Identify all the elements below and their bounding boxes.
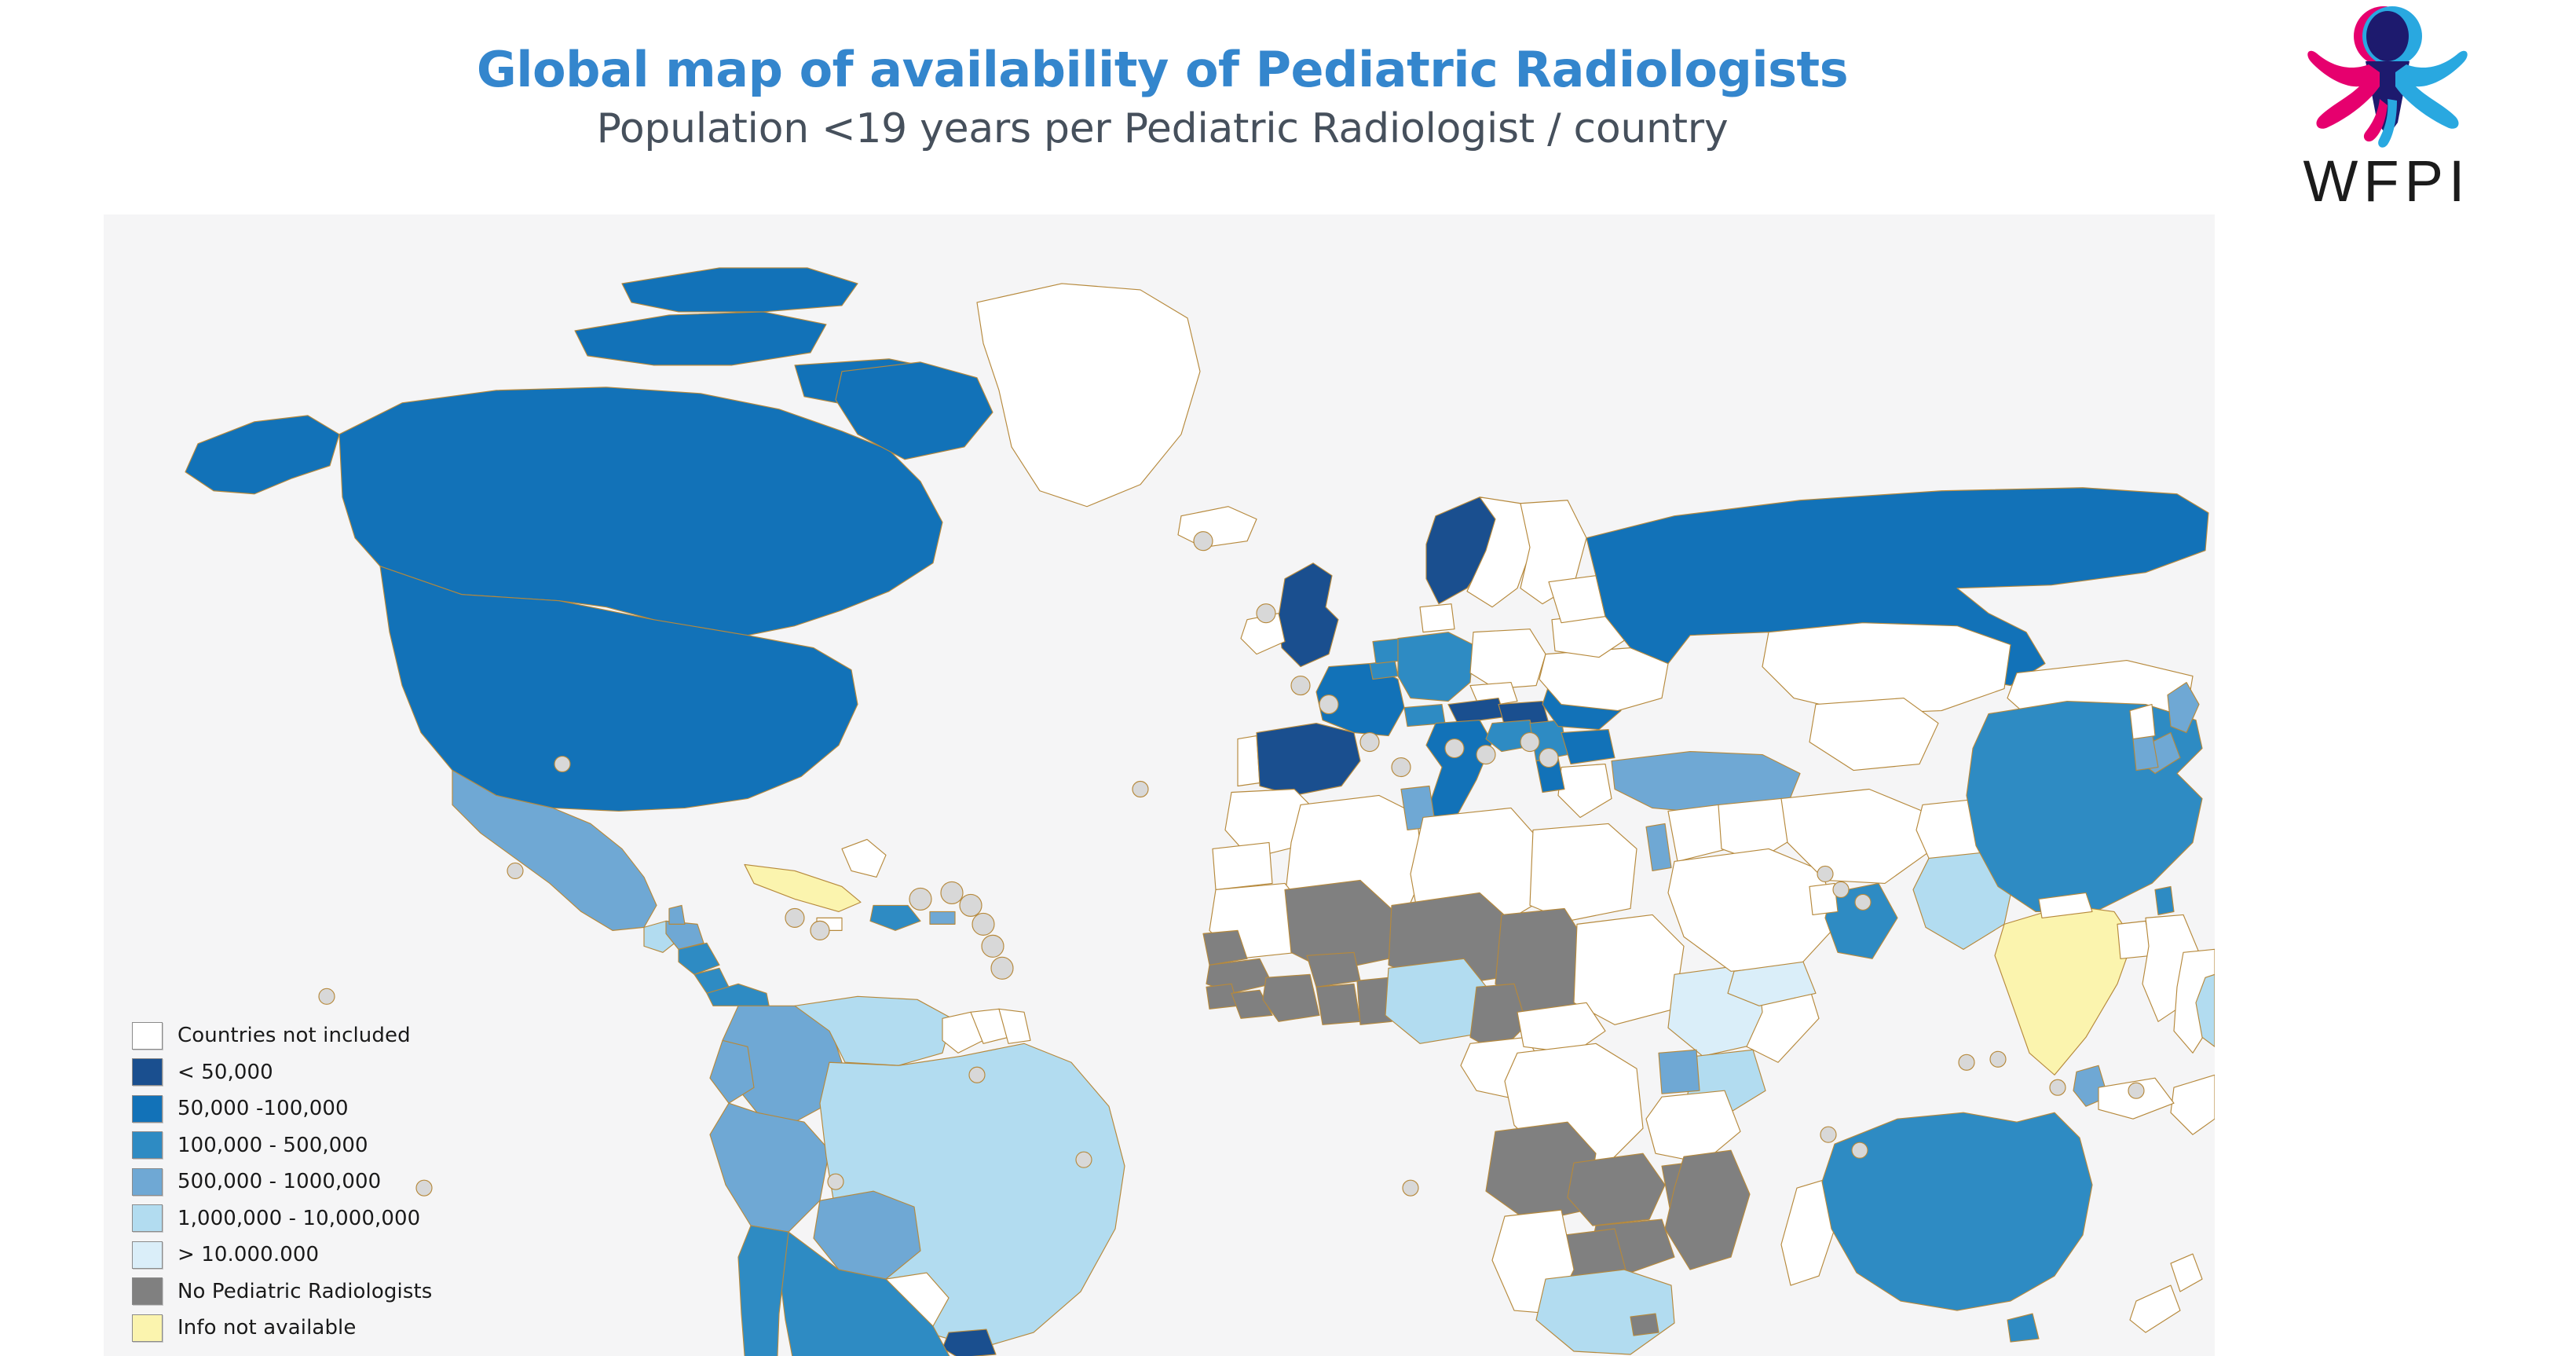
country-new-zealand-north[interactable]	[2171, 1254, 2202, 1292]
country-greenland[interactable]	[977, 284, 1200, 507]
country-egypt[interactable]	[1530, 823, 1637, 921]
country-ukraine[interactable]	[1539, 648, 1668, 711]
country-tasmania[interactable]	[2007, 1314, 2039, 1342]
country-china[interactable]	[1967, 702, 2202, 912]
country-taiwan[interactable]	[2155, 886, 2174, 914]
country-portugal[interactable]	[1238, 736, 1260, 786]
legend-item-none[interactable]: No Pediatric Radiologists	[132, 1274, 572, 1310]
country-peru[interactable]	[710, 1103, 829, 1232]
legend-swatch-1m-10m	[132, 1204, 163, 1232]
country-germany[interactable]	[1398, 632, 1473, 702]
legend-item-not-included[interactable]: Countries not included	[132, 1017, 572, 1054]
legend-label-none: No Pediatric Radiologists	[177, 1280, 432, 1303]
legend-item-no-info[interactable]: Info not available	[132, 1310, 572, 1347]
legend-swatch-500k-1m	[132, 1168, 163, 1196]
country-united-kingdom[interactable]	[1279, 563, 1338, 667]
legend-label-100k-500k: 100,000 - 500,000	[177, 1134, 368, 1157]
legend-swatch-not-included	[132, 1022, 163, 1050]
country-bahamas[interactable]	[842, 839, 886, 877]
country-india[interactable]	[1995, 905, 2133, 1075]
country-poland[interactable]	[1470, 629, 1546, 689]
country-zambia[interactable]	[1568, 1153, 1665, 1226]
country-ghana[interactable]	[1316, 984, 1360, 1024]
country-south-africa[interactable]	[1536, 1270, 1674, 1354]
legend-label-lt-50k: < 50,000	[177, 1061, 273, 1084]
legend-label-not-included: Countries not included	[177, 1024, 411, 1047]
country-puerto-rico[interactable]	[930, 911, 955, 924]
legend-item-100k-500k[interactable]: 100,000 - 500,000	[132, 1127, 572, 1164]
country-lesotho[interactable]	[1630, 1314, 1659, 1336]
country-belize[interactable]	[669, 905, 685, 924]
legend-item-1m-10m[interactable]: 1,000,000 - 10,000,000	[132, 1200, 572, 1237]
country-canada-arctic-1[interactable]	[575, 312, 826, 365]
legend-label-gt-10m: > 10.000.000	[177, 1243, 319, 1266]
country-denmark[interactable]	[1420, 604, 1454, 632]
country-uruguay[interactable]	[942, 1329, 996, 1356]
legend-swatch-100k-500k	[132, 1131, 163, 1159]
legend-label-1m-10m: 1,000,000 - 10,000,000	[177, 1207, 420, 1230]
legend-item-lt-50k[interactable]: < 50,000	[132, 1054, 572, 1091]
wfpi-logo: WFPI	[2262, 0, 2576, 228]
legend-item-500k-1m[interactable]: 500,000 - 1000,000	[132, 1164, 572, 1200]
country-alaska[interactable]	[185, 416, 339, 494]
country-greece[interactable]	[1558, 764, 1612, 818]
country-burkina-faso[interactable]	[1307, 952, 1360, 987]
country-canada-arctic-2[interactable]	[622, 268, 858, 312]
country-new-zealand-south[interactable]	[2130, 1285, 2180, 1332]
country-austria[interactable]	[1448, 698, 1505, 724]
country-uganda[interactable]	[1659, 1050, 1700, 1094]
legend-swatch-50k-100k	[132, 1095, 163, 1123]
legend-label-500k-1m: 500,000 - 1000,000	[177, 1170, 381, 1193]
country-iceland[interactable]	[1178, 507, 1257, 548]
country-cuba[interactable]	[745, 864, 861, 911]
country-israel-lebanon[interactable]	[1646, 823, 1671, 870]
wfpi-wordmark: WFPI	[2281, 148, 2493, 214]
page-subtitle: Population <19 years per Pediatric Radio…	[0, 94, 2325, 149]
country-baltics[interactable]	[1549, 576, 1605, 623]
legend-swatch-gt-10m	[132, 1241, 163, 1269]
page-title: Global map of availability of Pediatric …	[0, 0, 2325, 94]
country-hispaniola[interactable]	[870, 905, 920, 930]
legend-item-gt-10m[interactable]: > 10.000.000	[132, 1237, 572, 1274]
wfpi-child-figure-logo	[2293, 5, 2474, 154]
legend-swatch-lt-50k	[132, 1058, 163, 1086]
country-uzbekistan-turkmenistan[interactable]	[1809, 698, 1938, 771]
country-indonesia-sumatra[interactable]	[2171, 1075, 2215, 1134]
legend-swatch-none	[132, 1277, 163, 1305]
legend-label-no-info: Info not available	[177, 1316, 356, 1340]
legend-item-50k-100k[interactable]: 50,000 -100,000	[132, 1090, 572, 1127]
map-legend: Countries not included < 50,000 50,000 -…	[132, 1017, 572, 1347]
slide-root: Global map of availability of Pediatric …	[0, 0, 2576, 1356]
legend-swatch-no-info	[132, 1314, 163, 1342]
country-australia[interactable]	[1822, 1112, 2092, 1310]
header: Global map of availability of Pediatric …	[0, 0, 2325, 149]
legend-label-50k-100k: 50,000 -100,000	[177, 1097, 349, 1120]
country-western-sahara[interactable]	[1213, 842, 1272, 889]
country-bulgaria[interactable]	[1561, 730, 1615, 764]
country-spain[interactable]	[1257, 724, 1360, 796]
country-north-korea[interactable]	[2130, 705, 2155, 739]
country-belgium[interactable]	[1370, 661, 1398, 680]
